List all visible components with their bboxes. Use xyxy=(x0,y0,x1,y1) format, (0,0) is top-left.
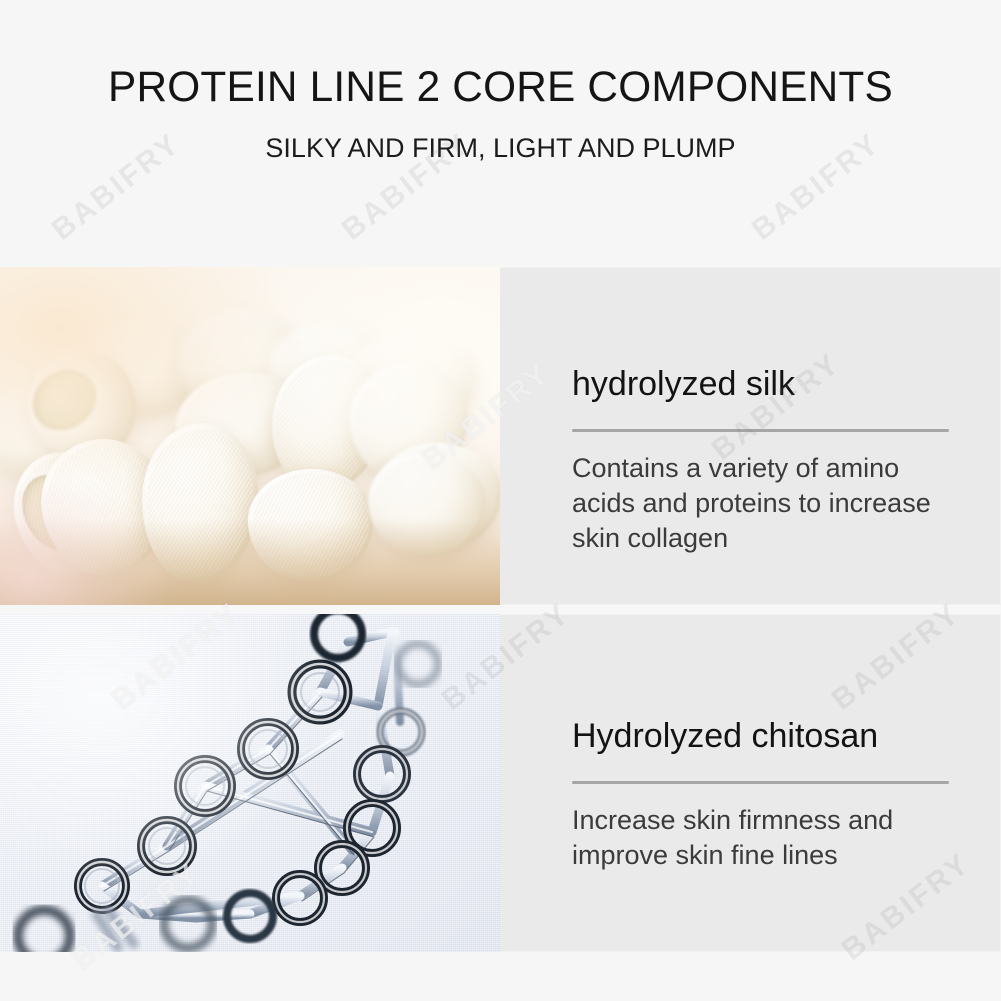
page-title: PROTEIN LINE 2 CORE COMPONENTS xyxy=(8,62,994,112)
silk-cocoons-image xyxy=(0,267,500,605)
page-subtitle: SILKY AND FIRM, LIGHT AND PLUMP xyxy=(0,131,1001,165)
table-shadow xyxy=(0,519,500,605)
component-row-silk: hydrolyzed silk Contains a variety of am… xyxy=(0,267,1001,605)
heading-divider xyxy=(572,429,949,432)
component-description: Increase skin firmness and improve skin … xyxy=(572,803,950,873)
molecular-model-image xyxy=(0,614,500,952)
infographic-page: PROTEIN LINE 2 CORE COMPONENTS SILKY AND… xyxy=(0,0,1001,1001)
heading-divider xyxy=(572,781,949,784)
cocoon-scene xyxy=(0,267,500,605)
footer-strip xyxy=(0,952,1001,1001)
molecule-scene xyxy=(0,614,500,952)
molecule-diagram-svg xyxy=(0,614,500,952)
header-section: PROTEIN LINE 2 CORE COMPONENTS SILKY AND… xyxy=(0,0,1001,266)
component-heading: Hydrolyzed chitosan xyxy=(572,715,950,757)
component-info-silk: hydrolyzed silk Contains a variety of am… xyxy=(500,267,1001,605)
component-description: Contains a variety of amino acids and pr… xyxy=(572,451,950,556)
component-row-chitosan: Hydrolyzed chitosan Increase skin firmne… xyxy=(0,614,1001,952)
component-heading: hydrolyzed silk xyxy=(572,363,950,405)
component-info-chitosan: Hydrolyzed chitosan Increase skin firmne… xyxy=(500,614,1001,952)
